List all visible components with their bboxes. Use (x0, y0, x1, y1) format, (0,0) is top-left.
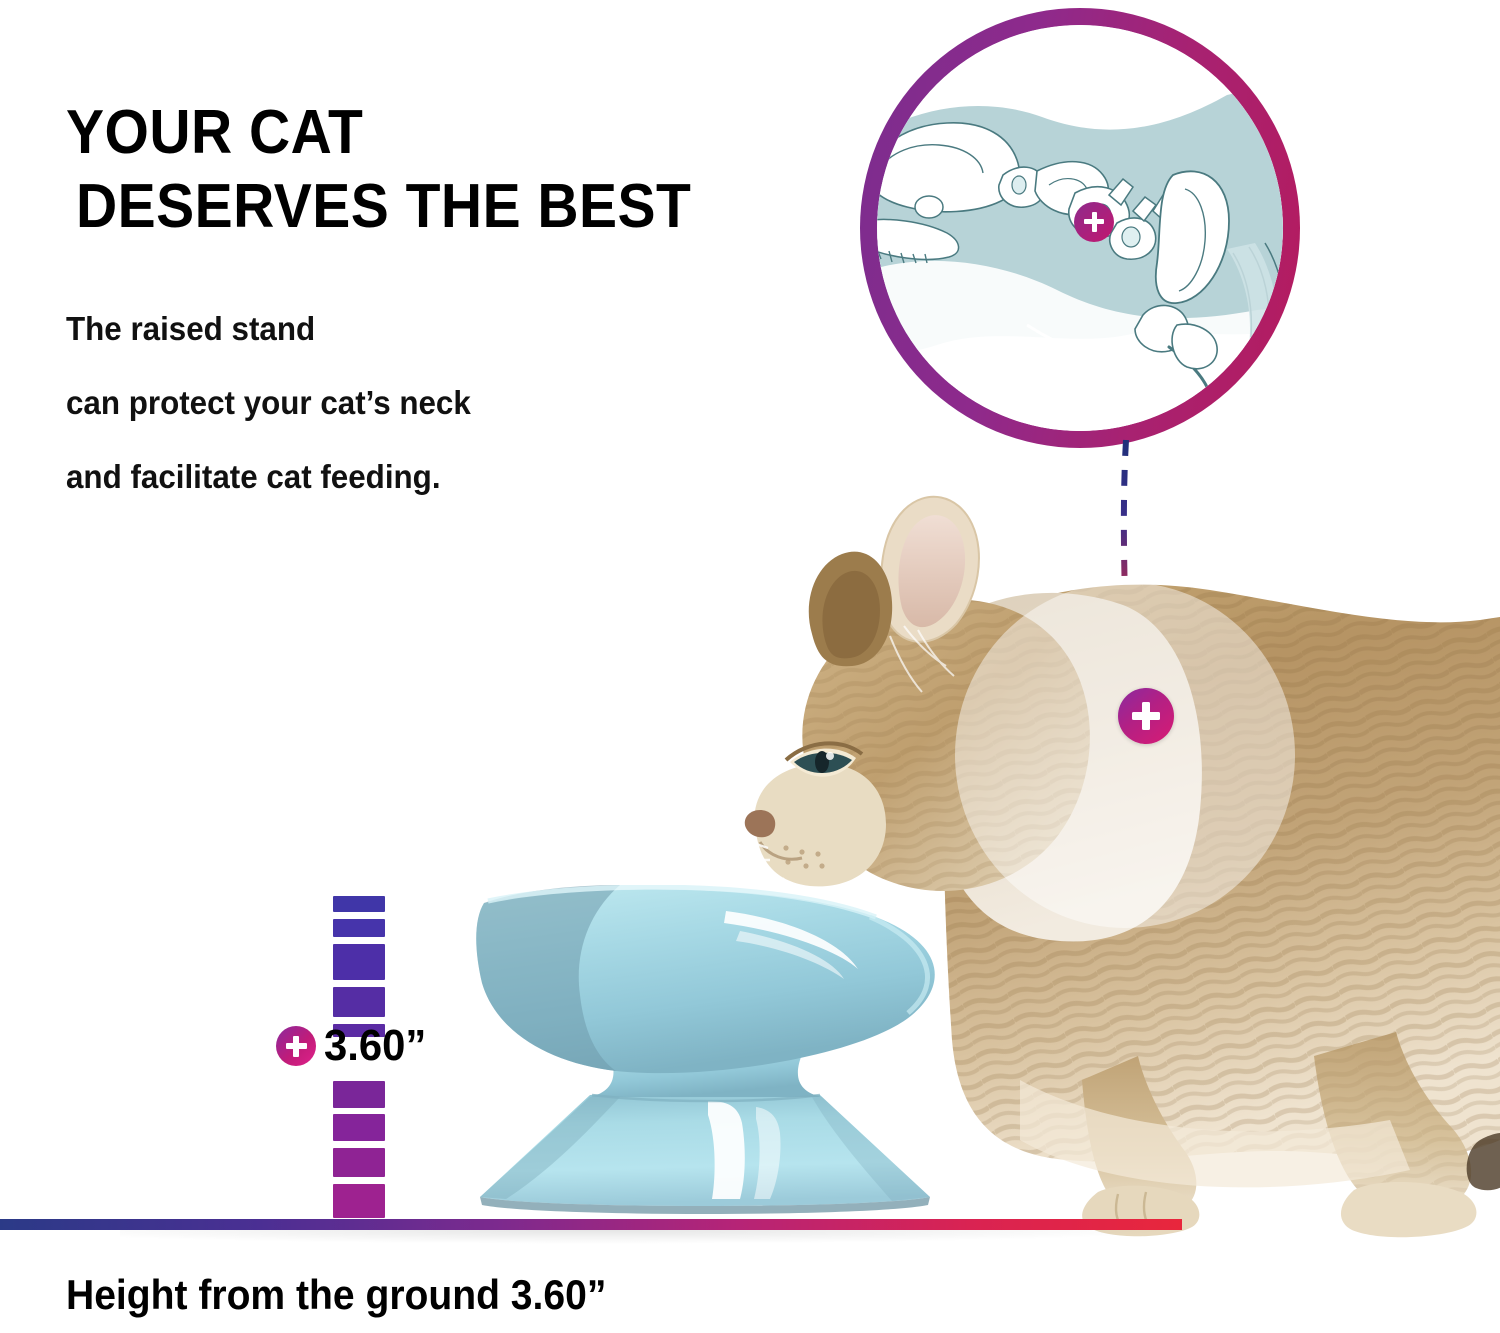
body-copy-line-1: The raised stand (66, 292, 674, 366)
headline-block: YOUR CAT DESERVES THE BEST (66, 96, 886, 244)
body-copy-line-3: and facilitate cat feeding. (66, 440, 674, 514)
neck-plus-icon (1118, 688, 1174, 744)
height-caption: Height from the ground 3.60” (66, 1272, 606, 1318)
ruler-segment (333, 1184, 385, 1218)
ground-baseline (0, 1219, 1182, 1230)
raised-cat-bowl-illustration (440, 885, 970, 1225)
ruler-segment (333, 1081, 385, 1108)
headline-line-1: YOUR CAT (66, 96, 820, 170)
product-bowl (440, 885, 970, 1225)
ruler-segment (333, 919, 385, 937)
height-measure-label: 3.60” (276, 1024, 432, 1068)
skeleton-plus-icon (1074, 202, 1114, 242)
ruler-segment (333, 944, 385, 980)
measure-value: 3.60” (324, 1024, 426, 1068)
skeleton-magnifier-circle (860, 8, 1300, 448)
skeleton-diagram (877, 25, 1283, 431)
ruler-segment (333, 987, 385, 1017)
body-copy-block: The raised stand can protect your cat’s … (66, 292, 706, 514)
measure-plus-icon (276, 1026, 316, 1066)
headline-line-2: DESERVES THE BEST (76, 170, 821, 244)
ruler-segment (333, 896, 385, 912)
ruler-segment (333, 1148, 385, 1177)
ground-shadow (120, 1230, 1180, 1244)
ruler-segment (333, 1114, 385, 1141)
infographic-canvas: YOUR CAT DESERVES THE BEST The raised st… (0, 0, 1500, 1333)
body-copy-line-2: can protect your cat’s neck (66, 366, 674, 440)
